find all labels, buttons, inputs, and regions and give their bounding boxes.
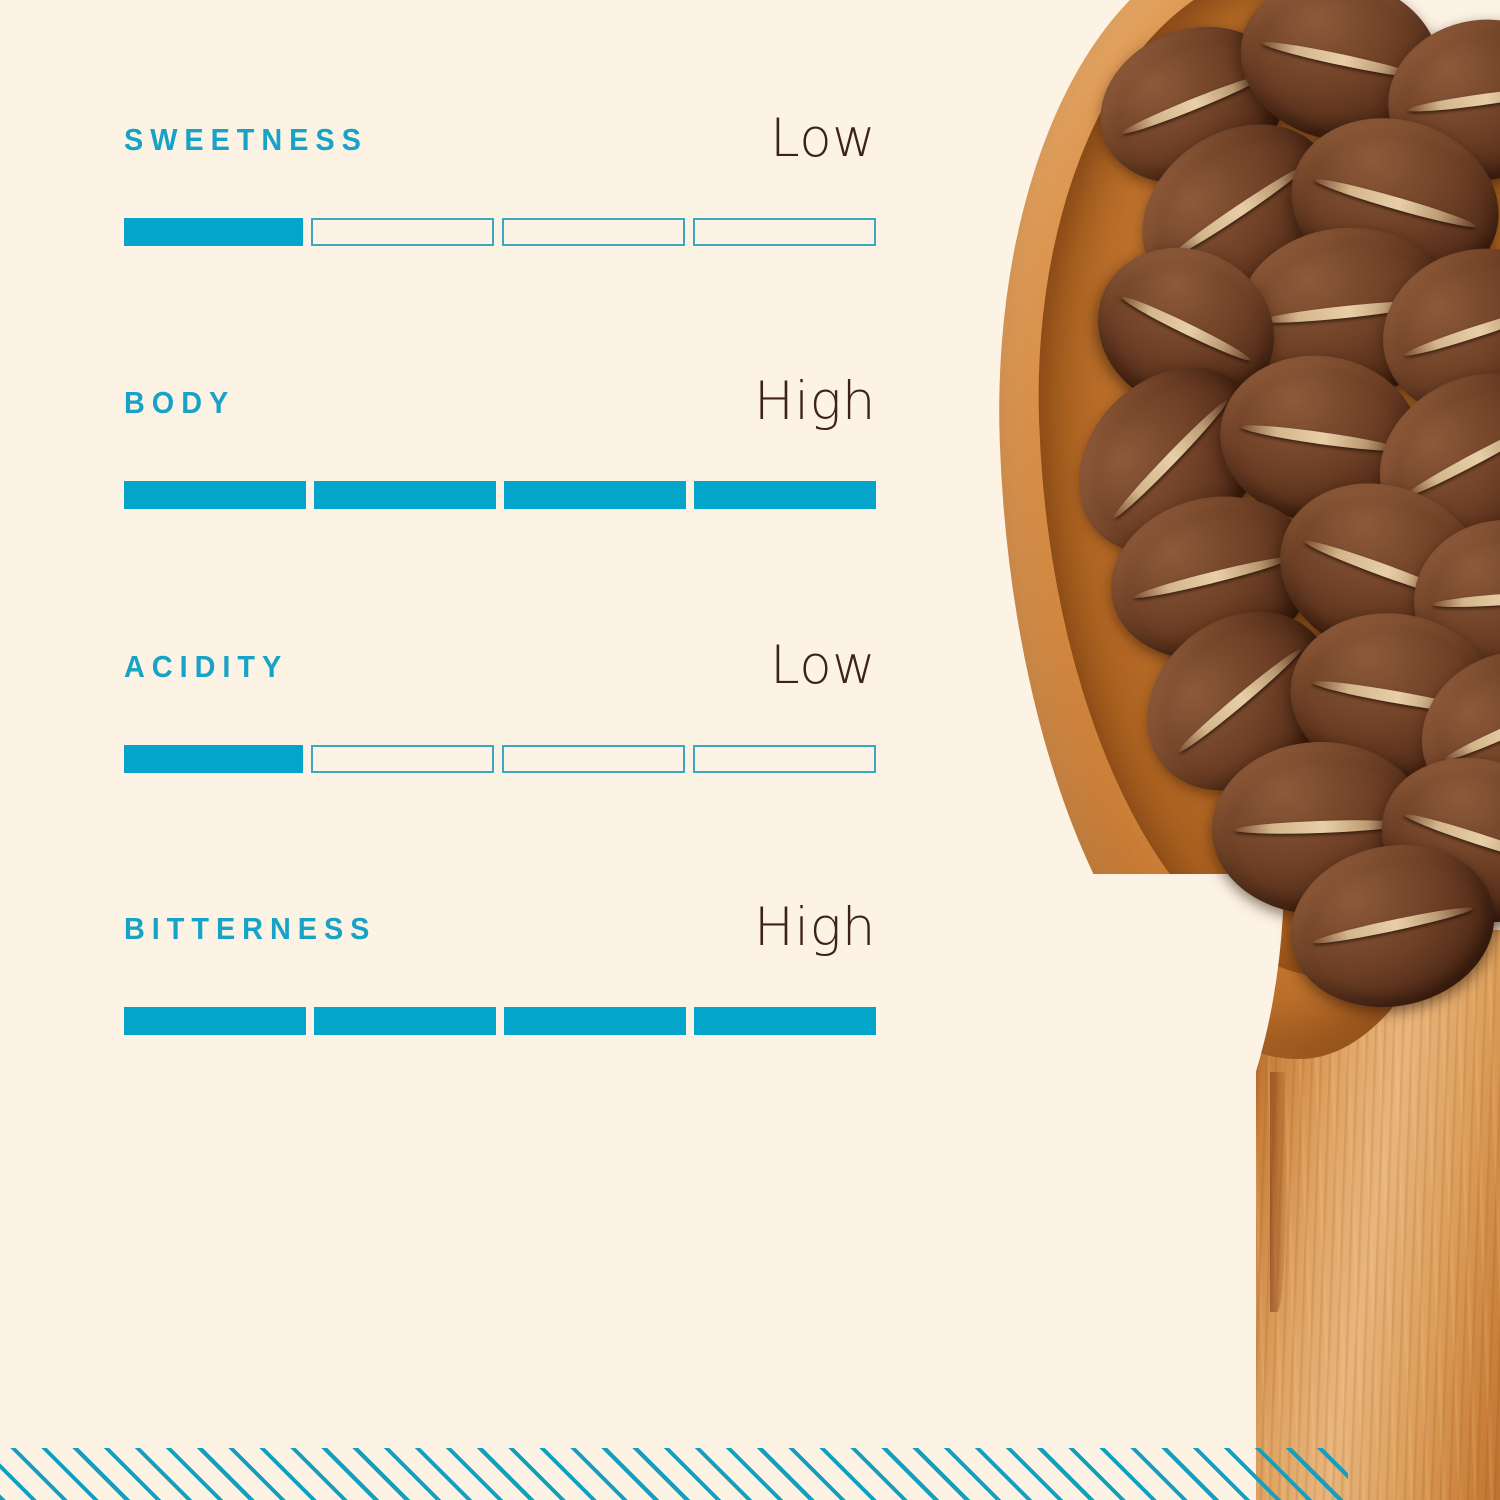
meter-segment <box>504 1007 686 1035</box>
meter-header: BODY High <box>124 375 876 447</box>
meter-label: ACIDITY <box>124 639 288 695</box>
coffee-bean-pile <box>990 0 1500 1020</box>
meter-value: High <box>754 895 876 961</box>
meter-header: BITTERNESS High <box>124 901 876 973</box>
photo-left-edge <box>990 0 992 1500</box>
bean-crease <box>1311 903 1474 948</box>
flavour-meter-acidity: ACIDITY Low <box>124 639 876 711</box>
bean-crease <box>1119 292 1253 365</box>
diagonal-stripe-band <box>0 1448 1348 1500</box>
meter-segment <box>311 218 494 246</box>
meter-segment <box>311 745 494 773</box>
meter-segment <box>124 745 303 773</box>
bean-crease <box>1407 83 1500 115</box>
bean-crease <box>1442 697 1500 765</box>
meter-segment <box>504 481 686 509</box>
meter-label: BODY <box>124 375 235 431</box>
flavour-meter-bitterness: BITTERNESS High <box>124 901 876 973</box>
meter-bar <box>124 1007 876 1035</box>
meter-value: Low <box>770 106 876 172</box>
product-flavour-profile-card: SWEETNESS Low BODY High <box>0 0 1500 1500</box>
bean-crease <box>1432 589 1500 610</box>
meter-value: High <box>754 369 876 435</box>
meter-segment <box>124 218 303 246</box>
bean-crease <box>1240 421 1400 455</box>
bean-crease <box>1313 174 1478 232</box>
meter-segment <box>694 481 876 509</box>
meter-segment <box>502 218 685 246</box>
meter-segment <box>694 1007 876 1035</box>
meter-segment <box>693 218 876 246</box>
bean-crease <box>1403 303 1500 361</box>
coffee-beans-spoon-photo <box>990 0 1500 1500</box>
meter-segment <box>693 745 876 773</box>
flavour-meter-list: SWEETNESS Low BODY High <box>124 0 876 1500</box>
bean-crease <box>1233 818 1405 836</box>
meter-segment <box>124 1007 306 1035</box>
meter-header: ACIDITY Low <box>124 639 876 711</box>
meter-segment <box>502 745 685 773</box>
meter-segment <box>314 481 496 509</box>
meter-header: SWEETNESS Low <box>124 112 876 184</box>
meter-bar <box>124 481 876 509</box>
meter-bar <box>124 745 876 773</box>
flavour-meter-sweetness: SWEETNESS Low <box>124 112 876 184</box>
meter-label: SWEETNESS <box>124 112 368 168</box>
meter-label: BITTERNESS <box>124 901 376 957</box>
bean-crease <box>1402 416 1500 501</box>
photo-mask <box>990 0 1500 1500</box>
bean-crease <box>1131 552 1293 603</box>
meter-segment <box>124 481 306 509</box>
flavour-meter-body: BODY High <box>124 375 876 447</box>
meter-bar <box>124 218 876 246</box>
meter-segment <box>314 1007 496 1035</box>
meter-value: Low <box>770 633 876 699</box>
bean-crease <box>1175 645 1305 757</box>
